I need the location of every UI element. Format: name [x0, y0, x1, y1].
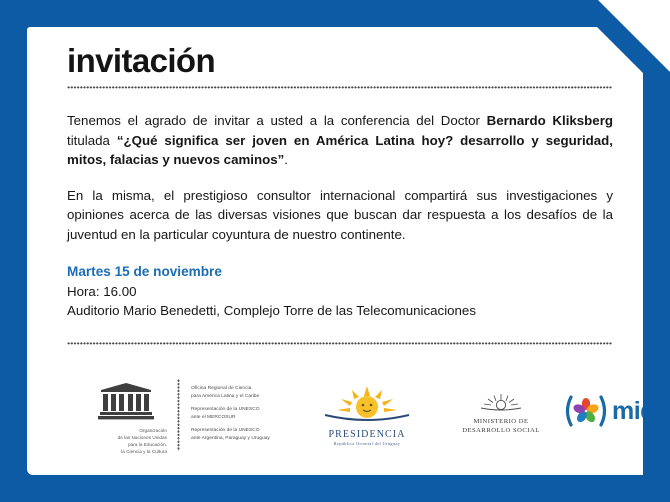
ministerio-logo: MINISTERIO DE DESARROLLO SOCIAL [449, 391, 553, 436]
unesco-office-2: Representación de la UNESCO ante el MERC… [191, 406, 311, 421]
unesco-offices: Oficina Regional de Ciencia para América… [191, 385, 311, 443]
talk-title: “¿Qué significa ser joven en América Lat… [67, 133, 613, 168]
event-venue: Auditorio Mario Benedetti, Complejo Torr… [67, 301, 613, 320]
unesco-office-1: Oficina Regional de Ciencia para América… [191, 385, 311, 400]
vertical-dotted-divider [177, 379, 180, 451]
divider-top [67, 86, 612, 89]
paragraph1-lead: Tenemos el agrado de invitar a usted a l… [67, 113, 487, 128]
unesco-caption: Organización de las Naciones Unidas para… [85, 428, 167, 456]
divider-bottom [67, 342, 612, 345]
presidencia-subtitle: República Oriental del Uruguay [315, 441, 419, 446]
unesco-caption-line-3: para la Educación, [85, 442, 167, 449]
logo-strip: Organización de las Naciones Unidas para… [67, 379, 619, 457]
ministerio-name: MINISTERIO DE DESARROLLO SOCIAL [449, 418, 553, 436]
unesco-logo: Organización de las Naciones Unidas para… [85, 381, 167, 456]
presidencia-name: PRESIDENCIA [315, 429, 419, 440]
paragraph-invitation: Tenemos el agrado de invitar a usted a l… [67, 111, 613, 170]
mides-logo: mides [563, 393, 643, 429]
unesco-caption-line-2: de las Naciones Unidas [85, 435, 167, 442]
unesco-office-3: Representación de la UNESCO ante Argenti… [191, 427, 311, 442]
speaker-name: Bernardo Kliksberg [487, 113, 613, 128]
unesco-temple-icon [97, 381, 155, 421]
presidencia-sun-icon [319, 383, 415, 423]
ministerio-sun-icon [479, 391, 523, 411]
invitation-card: invitación Tenemos el agrado de invitar … [0, 0, 670, 502]
unesco-caption-line-4: la Ciencia y la Cultura [85, 449, 167, 456]
paragraph-description: En la misma, el prestigioso consultor in… [67, 186, 613, 245]
invitation-content: invitación Tenemos el agrado de invitar … [67, 43, 613, 361]
mides-wordmark: mides [612, 397, 643, 426]
invitation-sheet: invitación Tenemos el agrado de invitar … [27, 27, 643, 475]
unesco-caption-line-1: Organización [85, 428, 167, 435]
mides-flower-icon [563, 393, 609, 429]
presidencia-logo: PRESIDENCIA República Oriental del Urugu… [315, 383, 419, 446]
paragraph1-end: . [284, 152, 288, 167]
event-details: Martes 15 de noviembre Hora: 16.00 Audit… [67, 262, 613, 320]
event-date: Martes 15 de noviembre [67, 262, 613, 282]
paragraph1-mid: titulada [67, 133, 117, 148]
ministerio-line-2: DESARROLLO SOCIAL [449, 427, 553, 436]
event-time: Hora: 16.00 [67, 282, 613, 301]
page-title: invitación [67, 43, 613, 79]
ministerio-line-1: MINISTERIO DE [449, 418, 553, 427]
